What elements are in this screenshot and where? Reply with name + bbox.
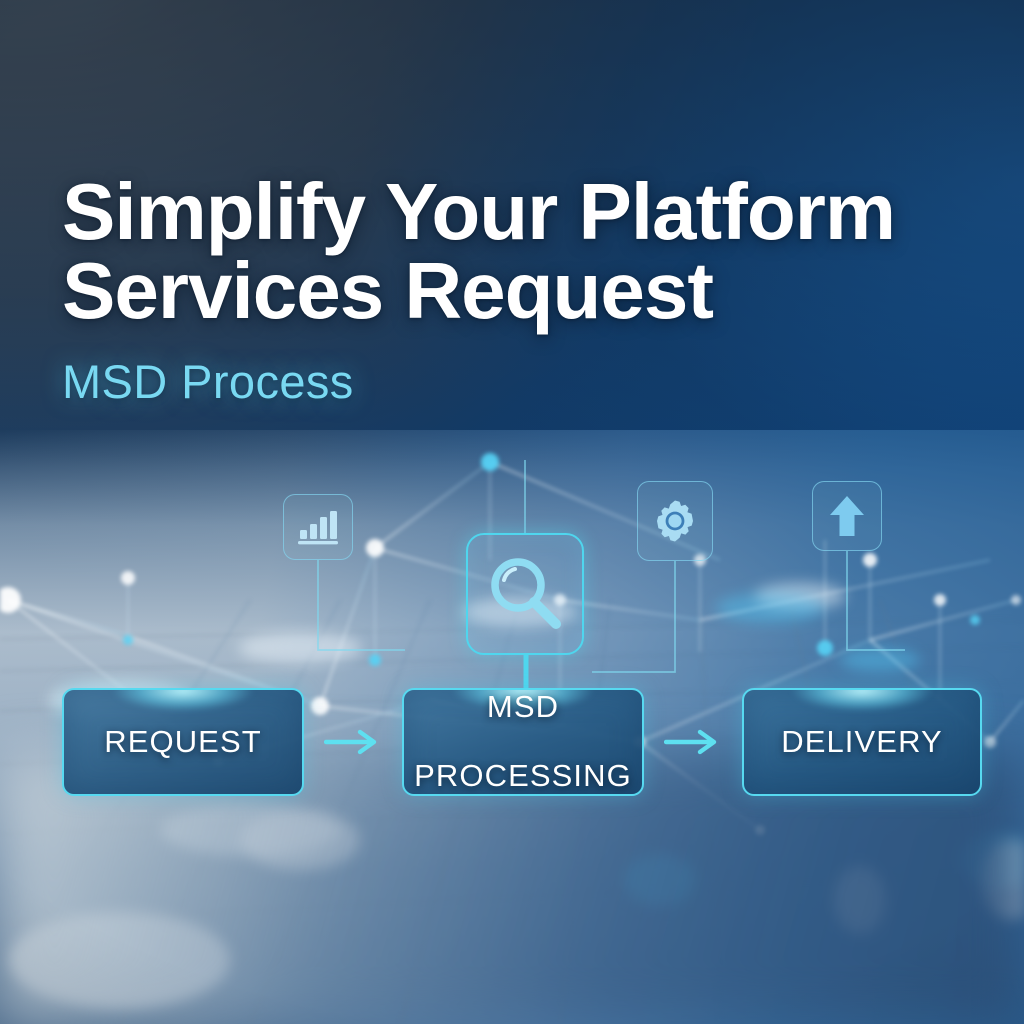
flow-step-msd-processing-label: MSD PROCESSING xyxy=(414,690,632,794)
flow-step-msd-processing-line2: PROCESSING xyxy=(414,759,632,794)
page-title: Simplify Your Platform Services Request xyxy=(62,172,982,330)
up-arrow-icon-tile xyxy=(812,481,882,551)
page-title-line2: Services Request xyxy=(62,251,982,330)
flow-step-request[interactable]: REQUEST xyxy=(62,688,304,796)
gear-icon-tile xyxy=(637,481,713,561)
page-title-line1: Simplify Your Platform xyxy=(62,167,895,256)
flow-step-request-label: REQUEST xyxy=(104,725,262,760)
right-arrow-icon xyxy=(324,729,382,755)
header-block: Simplify Your Platform Services Request … xyxy=(62,172,982,409)
page-subtitle: MSD Process xyxy=(62,354,982,409)
right-arrow-icon xyxy=(664,729,722,755)
process-flow: REQUEST MSD PROCESSING DELIVERY xyxy=(62,686,982,798)
flow-step-delivery[interactable]: DELIVERY xyxy=(742,688,982,796)
flow-arrow-1 xyxy=(321,729,385,755)
flow-step-msd-processing-line1: MSD xyxy=(414,690,632,725)
bar-chart-icon-tile xyxy=(283,494,353,560)
magnifier-icon-tile xyxy=(466,533,584,655)
bar-chart-icon xyxy=(297,508,339,546)
poster-canvas: Simplify Your Platform Services Request … xyxy=(0,0,1024,1024)
flow-step-delivery-label: DELIVERY xyxy=(781,725,943,760)
flow-arrow-2 xyxy=(661,729,725,755)
magnifier-icon xyxy=(484,553,566,635)
up-arrow-icon xyxy=(828,494,866,538)
flow-step-msd-processing[interactable]: MSD PROCESSING xyxy=(402,688,644,796)
gear-icon xyxy=(651,497,699,545)
